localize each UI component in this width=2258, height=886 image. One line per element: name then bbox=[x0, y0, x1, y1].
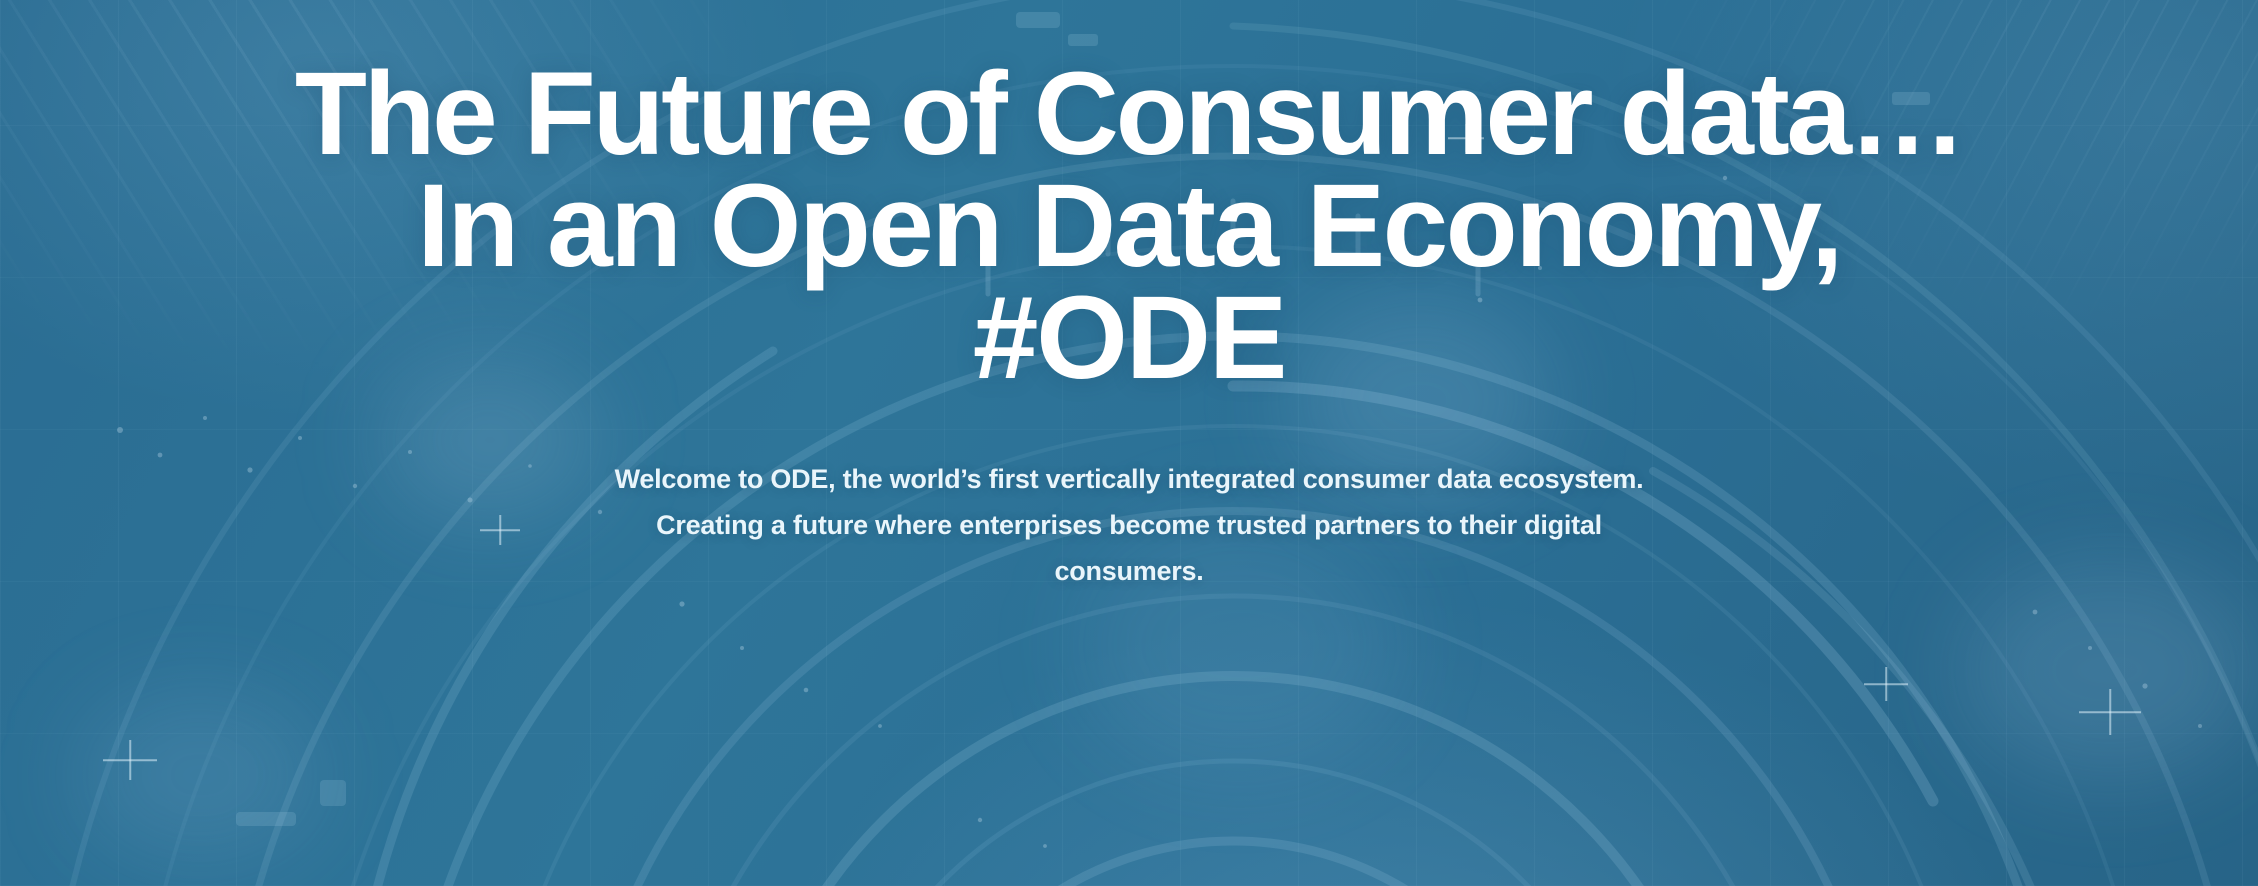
headline-line-1: The Future of Consumer data… bbox=[0, 58, 2258, 170]
subcopy-line-1: Welcome to ODE, the world’s first vertic… bbox=[504, 456, 1754, 502]
subcopy-line-3: consumers. bbox=[504, 548, 1754, 594]
hero-content: The Future of Consumer data… In an Open … bbox=[0, 0, 2258, 886]
headline-line-3: #ODE bbox=[0, 282, 2258, 394]
subcopy-line-2: Creating a future where enterprises beco… bbox=[504, 502, 1754, 548]
hero-subcopy: Welcome to ODE, the world’s first vertic… bbox=[504, 456, 1754, 594]
headline-line-2: In an Open Data Economy, bbox=[0, 170, 2258, 282]
page-title: The Future of Consumer data… In an Open … bbox=[0, 58, 2258, 394]
hero-banner: The Future of Consumer data… In an Open … bbox=[0, 0, 2258, 886]
